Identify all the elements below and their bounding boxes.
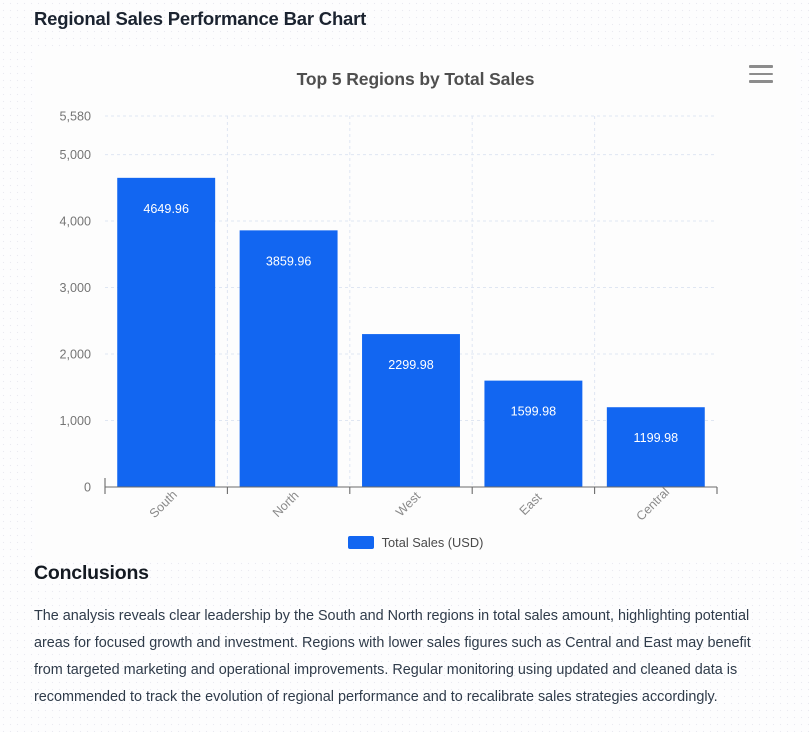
conclusions-heading: Conclusions: [34, 562, 774, 585]
bar-central[interactable]: [607, 407, 705, 487]
y-tick-label: 4,000: [59, 215, 91, 229]
bar-value-label: 3859.96: [266, 254, 312, 268]
bar-west[interactable]: [362, 334, 460, 487]
legend-swatch-total-sales: [348, 536, 374, 549]
page-title: Regional Sales Performance Bar Chart: [34, 8, 366, 30]
legend-label-total-sales: Total Sales (USD): [382, 535, 484, 550]
y-axis-tick-labels: 01,0002,0003,0004,0005,0005,580: [59, 110, 91, 495]
conclusions-body: The analysis reveals clear leadership by…: [34, 603, 769, 711]
bar-chart-svg: 01,0002,0003,0004,0005,0005,580 SouthNor…: [35, 50, 796, 562]
x-tick-label: West: [393, 489, 423, 519]
x-axis-tick-labels: SouthNorthWestEastCentral: [147, 485, 672, 524]
plot-area: 01,0002,0003,0004,0005,0005,580 SouthNor…: [35, 50, 796, 562]
y-tick-label: 0: [84, 481, 91, 495]
y-tick-label: 2,000: [59, 348, 91, 362]
bar-value-label: 1199.98: [634, 431, 679, 445]
y-tick-label: 1,000: [59, 414, 91, 428]
chart-legend[interactable]: Total Sales (USD): [35, 535, 796, 550]
x-tick-label: East: [517, 490, 545, 518]
bar-east[interactable]: [484, 381, 582, 487]
x-tick-label: North: [270, 488, 302, 520]
bar-value-label: 2299.98: [388, 358, 434, 372]
conclusions-section: Conclusions The analysis reveals clear l…: [34, 562, 774, 711]
y-tick-label: 5,000: [59, 148, 91, 162]
bars: [117, 178, 705, 487]
bar-value-label: 4649.96: [143, 202, 189, 216]
y-tick-label: 5,580: [59, 110, 91, 124]
bar-value-label: 1599.98: [511, 405, 557, 419]
y-tick-label: 3,000: [59, 281, 91, 295]
x-tick-label: South: [147, 488, 180, 521]
bar-north[interactable]: [240, 230, 338, 487]
bar-south[interactable]: [117, 178, 215, 487]
x-tick-label: Central: [634, 485, 673, 524]
chart-card: Top 5 Regions by Total Sales 01,0002,000…: [35, 50, 796, 562]
